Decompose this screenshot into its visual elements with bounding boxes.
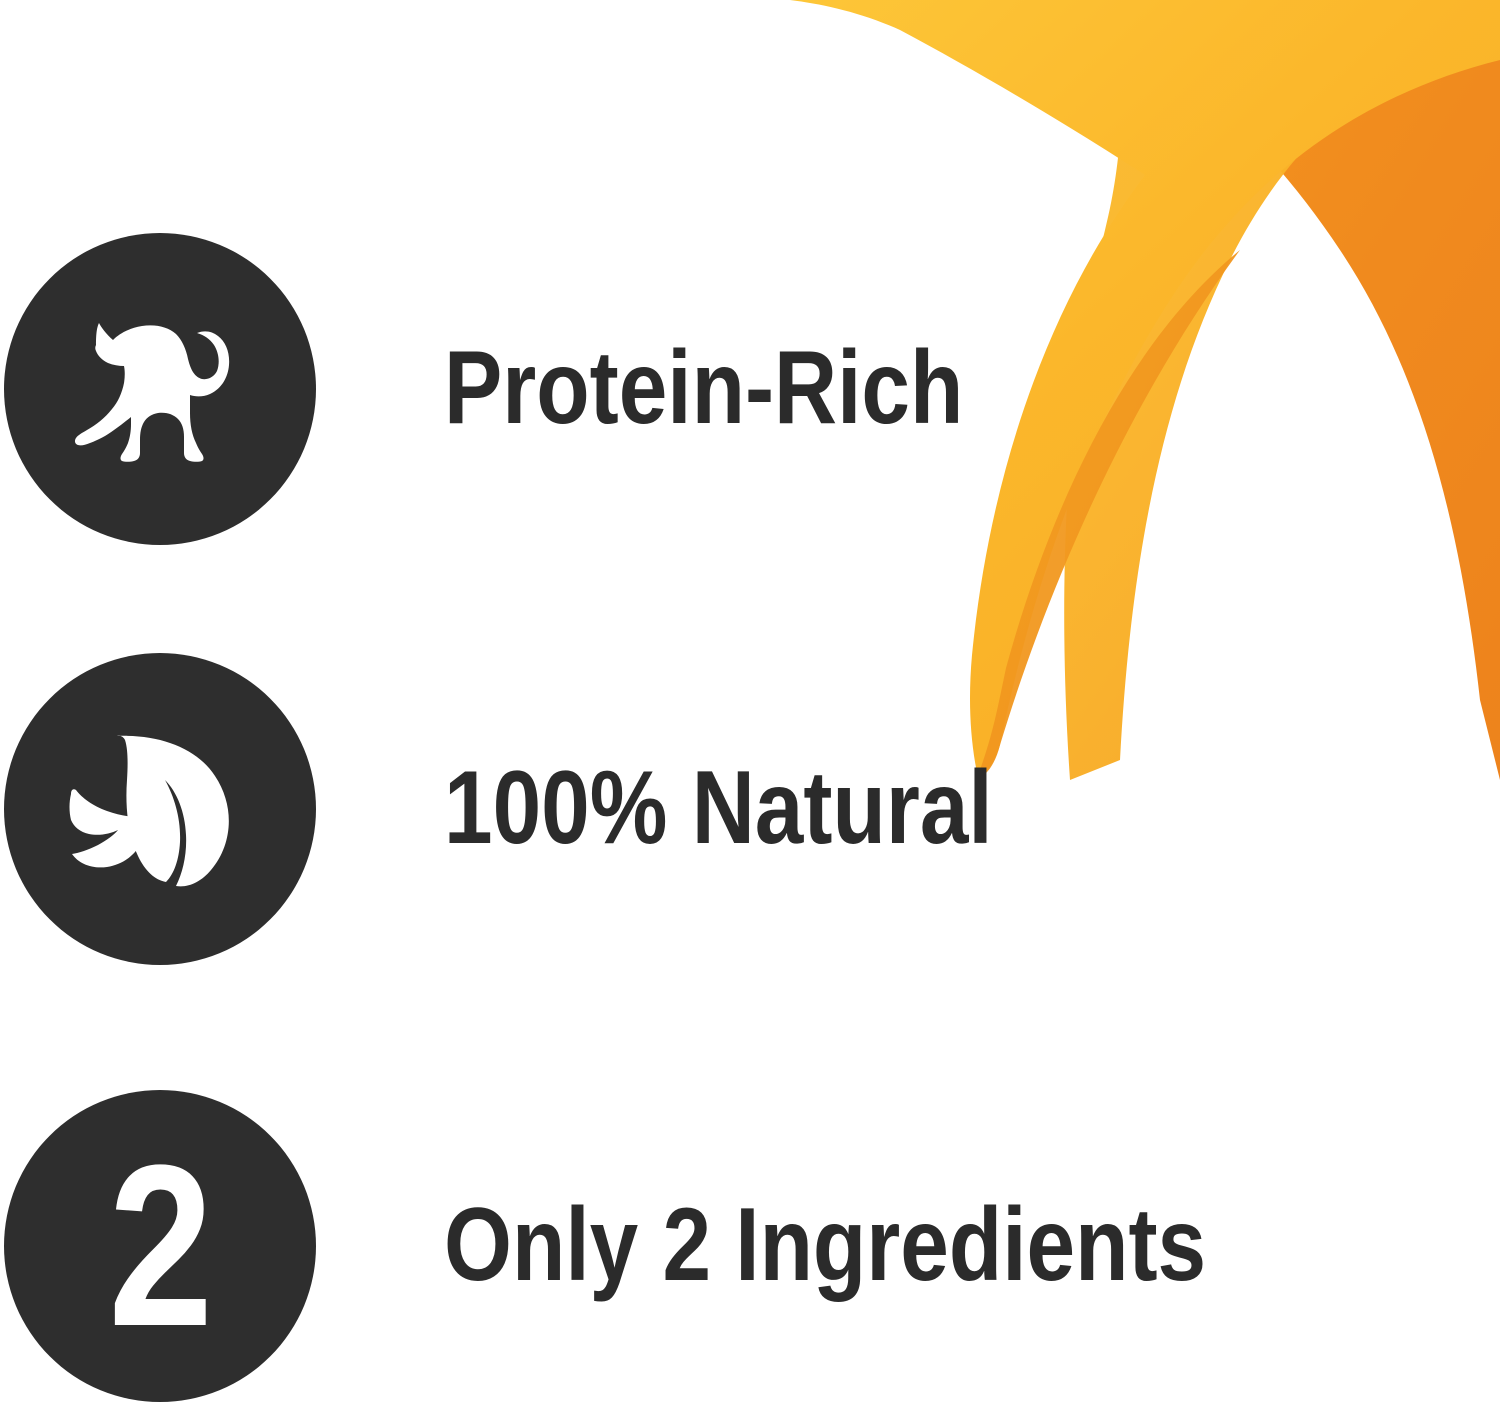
- feature-item-ingredients: 2 Only 2 Ingredients: [4, 1090, 1304, 1402]
- feature-label-protein-rich: Protein-Rich: [444, 334, 963, 443]
- feature-item-protein-rich: Protein-Rich: [4, 233, 1304, 545]
- number-two-icon: 2: [108, 1131, 211, 1361]
- cat-icon-badge: [4, 233, 316, 545]
- feature-list: Protein-Rich 100% Natural 2: [0, 0, 1500, 1411]
- leaf-icon-badge: [4, 653, 316, 965]
- product-feature-panel: Protein-Rich 100% Natural 2: [0, 0, 1500, 1411]
- feature-label-ingredients: Only 2 Ingredients: [444, 1191, 1206, 1300]
- feature-item-natural: 100% Natural: [4, 653, 1304, 965]
- number-two-icon-badge: 2: [4, 1090, 316, 1402]
- cat-icon: [60, 309, 260, 469]
- leaf-icon: [55, 714, 265, 904]
- feature-label-natural: 100% Natural: [444, 754, 993, 863]
